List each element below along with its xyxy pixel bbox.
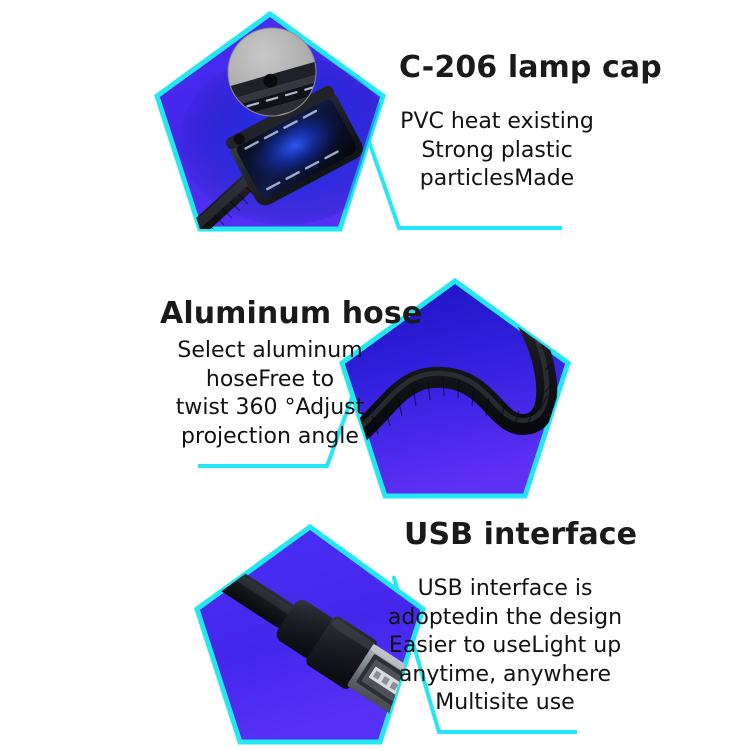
desc-line: Multisite use (385, 689, 625, 718)
section-desc-aluminum-hose: Select aluminum hoseFree to twist 360 °A… (145, 337, 395, 451)
section-desc-usb-interface: USB interface is adoptedin the design Ea… (385, 575, 625, 718)
desc-line: anytime, anywhere (385, 661, 625, 690)
desc-line: Select aluminum (145, 337, 395, 366)
desc-line: particlesMade (372, 165, 622, 194)
infographic-canvas: C-206 lamp cap PVC heat existing Strong … (0, 0, 750, 750)
desc-line: projection angle (145, 423, 395, 452)
desc-line: USB interface is (385, 575, 625, 604)
desc-line: adoptedin the design (385, 604, 625, 633)
section-title-lamp-cap: C-206 lamp cap (399, 50, 662, 85)
pentagon-lamp-cap (157, 14, 383, 229)
lamp-cap-photo (176, 28, 390, 246)
section-title-aluminum-hose: Aluminum hose (160, 296, 422, 331)
desc-line: hoseFree to (145, 366, 395, 395)
section-desc-lamp-cap: PVC heat existing Strong plastic particl… (372, 108, 622, 194)
desc-line: PVC heat existing (372, 108, 622, 137)
section-title-usb-interface: USB interface (404, 517, 637, 552)
desc-line: Strong plastic (372, 137, 622, 166)
desc-line: Easier to useLight up (385, 632, 625, 661)
desc-line: twist 360 °Adjust (145, 394, 395, 423)
magnifier-inset (224, 28, 339, 127)
